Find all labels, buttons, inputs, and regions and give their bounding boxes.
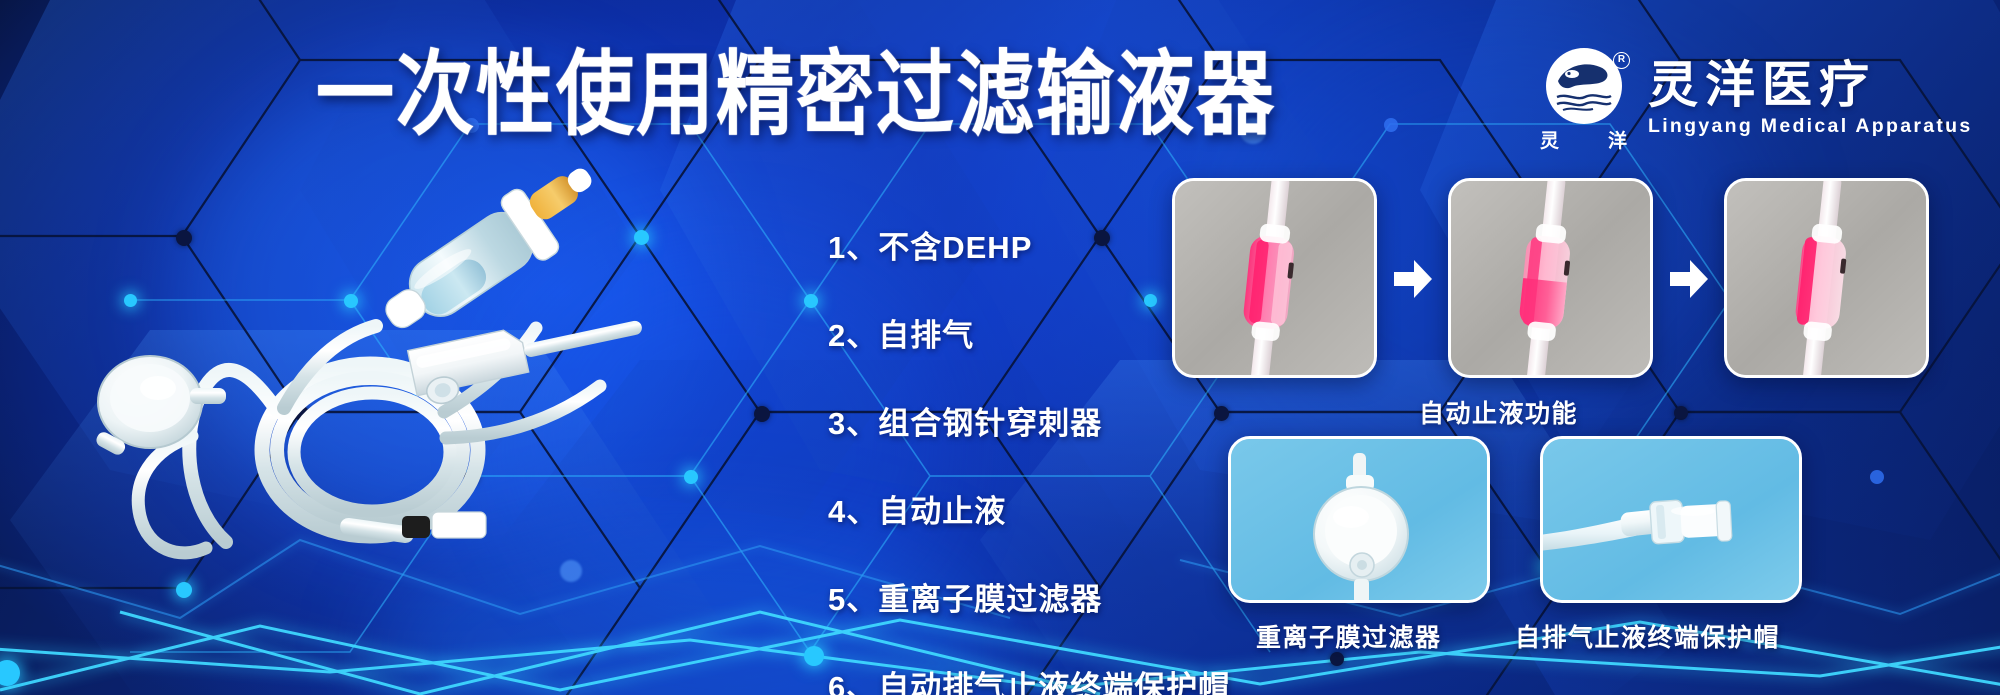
drip-chamber	[369, 150, 615, 351]
feature-item-1: 1、不含DEHP	[828, 222, 1230, 267]
product-photo-infusion-set	[40, 150, 660, 570]
company-name-en: Lingyang Medical Apparatus	[1648, 115, 1973, 138]
logo-sub-left: 灵	[1540, 126, 1560, 153]
caption-heavy-ion-membrane-filter: 重离子膜过滤器	[1256, 618, 1442, 654]
caption-auto-stop-function: 自动止液功能	[1419, 394, 1578, 430]
logo-sub-characters: 灵 洋	[1540, 126, 1628, 153]
panel-heavy-ion-membrane-filter	[1228, 436, 1490, 603]
wave-fish-icon	[1556, 61, 1612, 91]
roller-clamp	[408, 302, 649, 408]
feature-item-4: 4、自动止液	[828, 486, 1230, 531]
company-logo: R 灵 洋 灵洋医疗 Lingyang Medical Apparatus	[1540, 48, 1973, 148]
sea-lines-icon	[1555, 92, 1613, 112]
company-name-cn: 灵洋医疗	[1648, 59, 1973, 112]
feature-item-6: 6、自动排气止液终端保护帽	[828, 662, 1230, 695]
panel-drip-chamber-stopped	[1724, 178, 1929, 378]
banner-root: 一次性使用精密过滤输液器 R 灵 洋 灵	[0, 0, 2000, 695]
registered-trademark-icon: R	[1613, 52, 1630, 69]
feature-list: 1、不含DEHP 2、自排气 3、组合钢针穿刺器 4、自动止液 5、重离子膜过滤…	[828, 222, 1230, 695]
feature-item-2: 2、自排气	[828, 310, 1230, 355]
panel-drip-chamber-full	[1172, 178, 1377, 378]
feature-item-3: 3、组合钢针穿刺器	[828, 398, 1230, 443]
feature-item-5: 5、重离子膜过滤器	[828, 574, 1230, 619]
round-filter	[94, 356, 226, 457]
logo-sub-right: 洋	[1608, 126, 1628, 153]
page-title: 一次性使用精密过滤输液器	[316, 48, 1276, 140]
panel-drip-chamber-half	[1448, 178, 1653, 378]
sequence-arrow-icon-1	[1392, 256, 1434, 302]
logo-circle-icon	[1546, 48, 1622, 124]
sequence-arrow-icon-2	[1668, 256, 1710, 302]
logo-text-block: 灵洋医疗 Lingyang Medical Apparatus	[1648, 59, 1973, 138]
caption-self-venting-terminal-cap: 自排气止液终端保护帽	[1515, 618, 1780, 654]
logo-mark: R 灵 洋	[1540, 48, 1628, 148]
panel-self-venting-terminal-cap	[1540, 436, 1802, 603]
